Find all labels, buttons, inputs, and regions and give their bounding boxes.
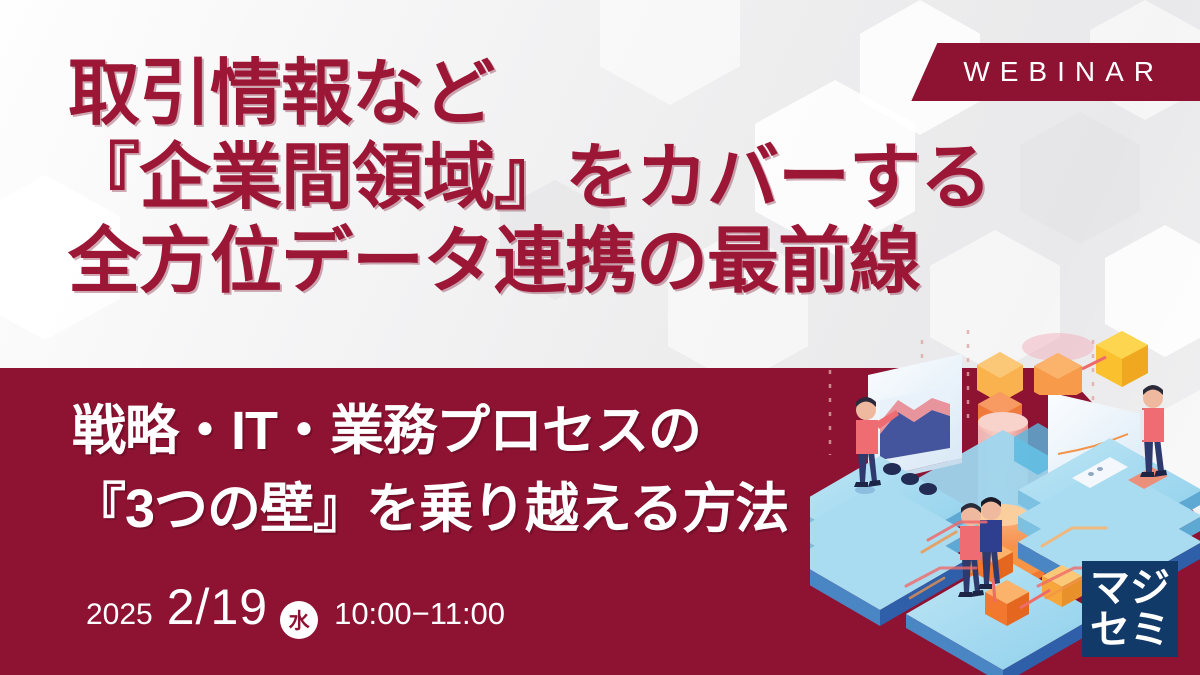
logo-line-1: マジ bbox=[1090, 567, 1170, 609]
subtitle-line-2: 『3つの壁』を乗り越える方法 bbox=[72, 470, 788, 548]
schedule-year: 2025 bbox=[86, 598, 153, 632]
webinar-banner: WEBINAR 取引情報など 『企業間領域』をカバーする 全方位データ連携の最前… bbox=[0, 0, 1200, 675]
illustration-upper-nodes bbox=[900, 325, 1200, 395]
headline-block: 取引情報など 『企業間領域』をカバーする 全方位データ連携の最前線 bbox=[68, 52, 1068, 304]
headline-line-1: 取引情報など bbox=[68, 52, 1068, 136]
schedule-row: 2025 2/19 水 10:00−11:00 bbox=[86, 578, 505, 636]
majisemi-logo: マジ セミ bbox=[1082, 561, 1178, 657]
headline-line-2: 『企業間領域』をカバーする bbox=[68, 136, 1068, 220]
headline-line-3: 全方位データ連携の最前線 bbox=[68, 220, 1068, 304]
schedule-date: 2/19 bbox=[167, 578, 268, 636]
subtitle-line-1: 戦略・IT・業務プロセスの bbox=[72, 392, 788, 470]
logo-line-2: セミ bbox=[1090, 609, 1170, 651]
schedule-weekday-badge: 水 bbox=[280, 601, 318, 639]
schedule-time: 10:00−11:00 bbox=[334, 596, 505, 632]
subtitle-block: 戦略・IT・業務プロセスの 『3つの壁』を乗り越える方法 bbox=[72, 392, 788, 548]
